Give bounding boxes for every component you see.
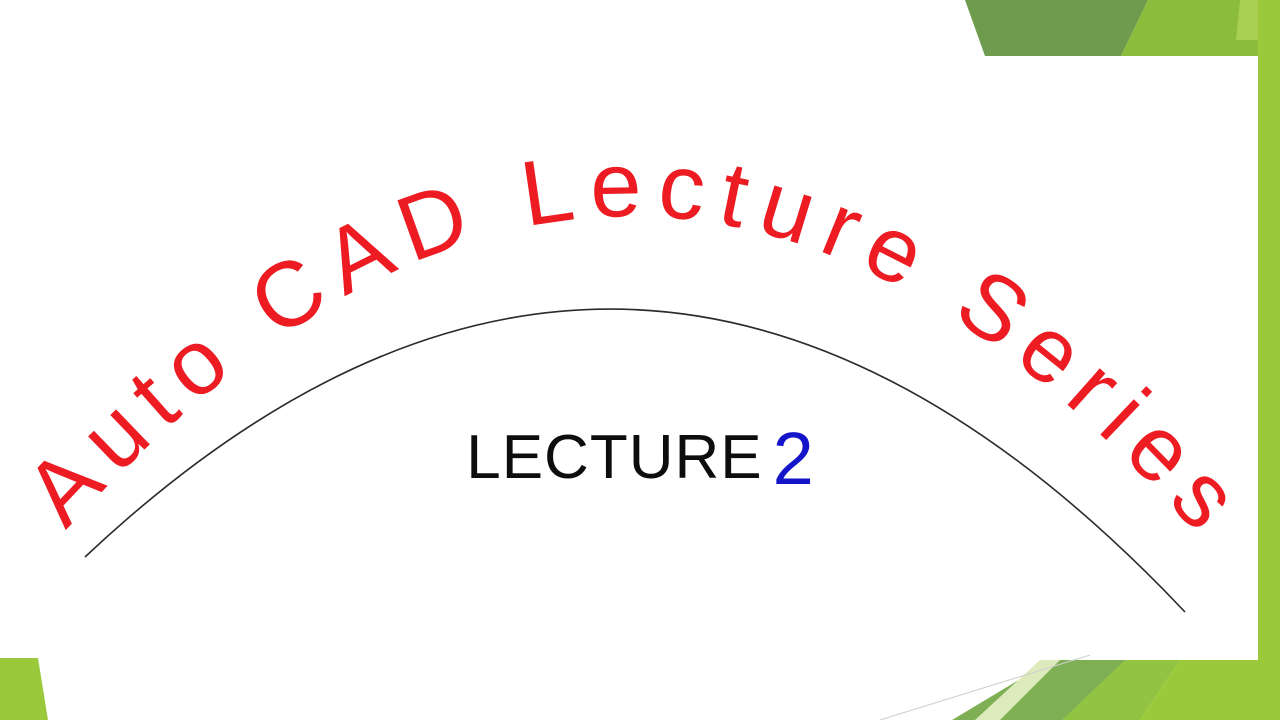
lecture-heading: LECTURE2	[0, 410, 1280, 495]
lecture-number: 2	[773, 417, 814, 500]
lecture-label: LECTURE	[466, 423, 762, 492]
wordart-title-layer: Auto CAD Lecture Series	[0, 0, 1280, 720]
presentation-slide: Auto CAD Lecture Series LECTURE2	[0, 0, 1280, 720]
